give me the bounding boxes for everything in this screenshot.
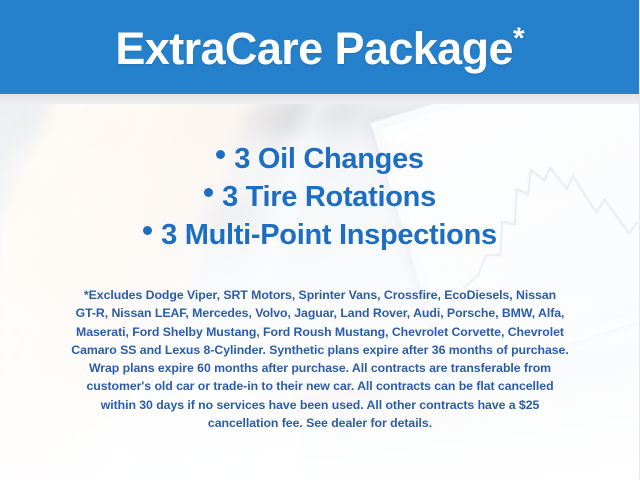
- disclaimer-line: Camaro SS and Lexus 8-Cylinder. Syntheti…: [28, 341, 612, 359]
- benefits-list: 3 Oil Changes 3 Tire Rotations 3 Multi-P…: [0, 140, 640, 254]
- disclaimer-line: Wrap plans expire 60 months after purcha…: [28, 359, 612, 377]
- page-title: ExtraCare Package*: [115, 24, 524, 71]
- page-title-asterisk: *: [513, 22, 525, 55]
- benefit-label: 3 Tire Rotations: [222, 181, 436, 213]
- disclaimer-line: GT-R, Nissan LEAF, Mercedes, Volvo, Jagu…: [28, 304, 612, 322]
- extracare-promo-banner: ExtraCare Package* 3 Oil Changes 3 Tire …: [0, 0, 640, 480]
- benefit-label: 3 Oil Changes: [234, 143, 424, 175]
- disclaimer-line: Maserati, Ford Shelby Mustang, Ford Rous…: [28, 323, 612, 341]
- benefit-item-tire-rotations: 3 Tire Rotations: [0, 178, 640, 216]
- header-band: ExtraCare Package*: [0, 0, 640, 94]
- header-divider: [0, 94, 640, 104]
- disclaimer-line: cancellation fee. See dealer for details…: [28, 414, 612, 432]
- disclaimer-line: *Excludes Dodge Viper, SRT Motors, Sprin…: [28, 286, 612, 304]
- bullet-dot-icon: [143, 226, 152, 235]
- benefit-item-multi-point-inspections: 3 Multi-Point Inspections: [0, 216, 640, 254]
- bullet-dot-icon: [204, 188, 213, 197]
- benefit-label: 3 Multi-Point Inspections: [161, 219, 497, 251]
- bullet-dot-icon: [216, 150, 225, 159]
- disclaimer-line: within 30 days if no services have been …: [28, 396, 612, 414]
- benefit-item-oil-changes: 3 Oil Changes: [0, 140, 640, 178]
- page-title-text: ExtraCare Package: [115, 23, 513, 74]
- disclaimer-text: *Excludes Dodge Viper, SRT Motors, Sprin…: [28, 286, 612, 432]
- disclaimer-line: customer's old car or trade-in to their …: [28, 377, 612, 395]
